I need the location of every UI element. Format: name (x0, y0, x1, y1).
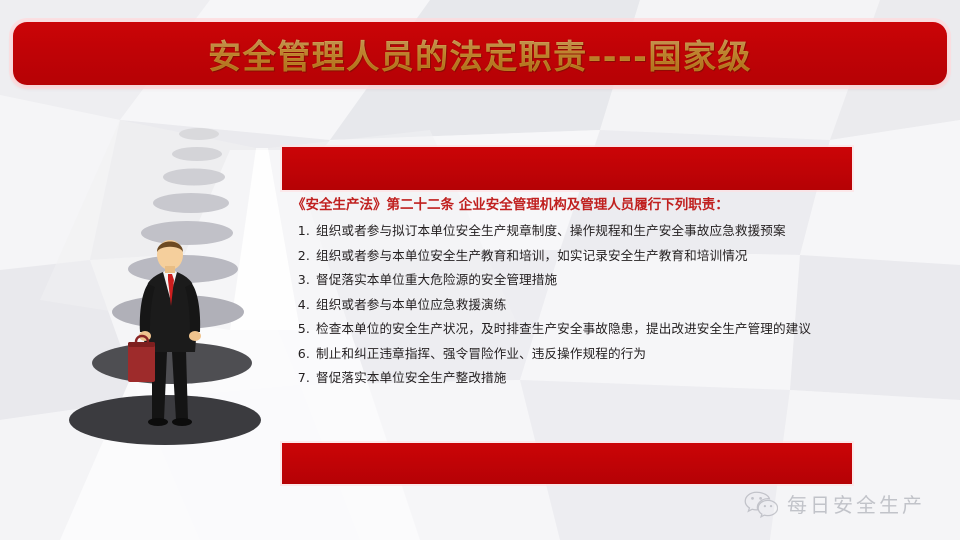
wechat-icon (744, 490, 778, 518)
duty-item-4: 组织或者参与本单位应急救援演练 (316, 296, 846, 313)
page-title: 安全管理人员的法定职责----国家级 (208, 30, 752, 78)
content-panel: 《安全生产法》第二十二条 企业安全管理机构及管理人员履行下列职责： 组织或者参与… (282, 147, 852, 485)
duty-item-5: 检查本单位的安全生产状况，及时排查生产安全事故隐患，提出改进安全生产管理的建议 (316, 320, 846, 337)
panel-bottom-red-bar (282, 443, 852, 484)
duty-item-3: 督促落实本单位重大危险源的安全管理措施 (316, 271, 846, 288)
slide-title-banner: 安全管理人员的法定职责----国家级 (13, 22, 947, 85)
businessman-illustration (60, 120, 320, 480)
duty-list: 组织或者参与拟订本单位安全生产规章制度、操作规程和生产安全事故应急救援预案 组织… (282, 222, 852, 386)
slide-canvas: 安全管理人员的法定职责----国家级 (0, 0, 960, 540)
duty-item-2: 组织或者参与本单位安全生产教育和培训，如实记录安全生产教育和培训情况 (316, 247, 846, 264)
watermark-text: 每日安全生产 (787, 489, 925, 518)
watermark: 每日安全生产 (744, 489, 925, 518)
duty-item-6: 制止和纠正违章指挥、强令冒险作业、违反操作规程的行为 (316, 345, 846, 362)
duty-item-1: 组织或者参与拟订本单位安全生产规章制度、操作规程和生产安全事故应急救援预案 (316, 222, 846, 239)
duty-item-7: 督促落实本单位安全生产整改措施 (316, 369, 846, 386)
panel-body: 《安全生产法》第二十二条 企业安全管理机构及管理人员履行下列职责： 组织或者参与… (282, 190, 852, 443)
law-clause-heading: 《安全生产法》第二十二条 企业安全管理机构及管理人员履行下列职责： (282, 193, 852, 222)
panel-top-red-bar (282, 147, 852, 190)
